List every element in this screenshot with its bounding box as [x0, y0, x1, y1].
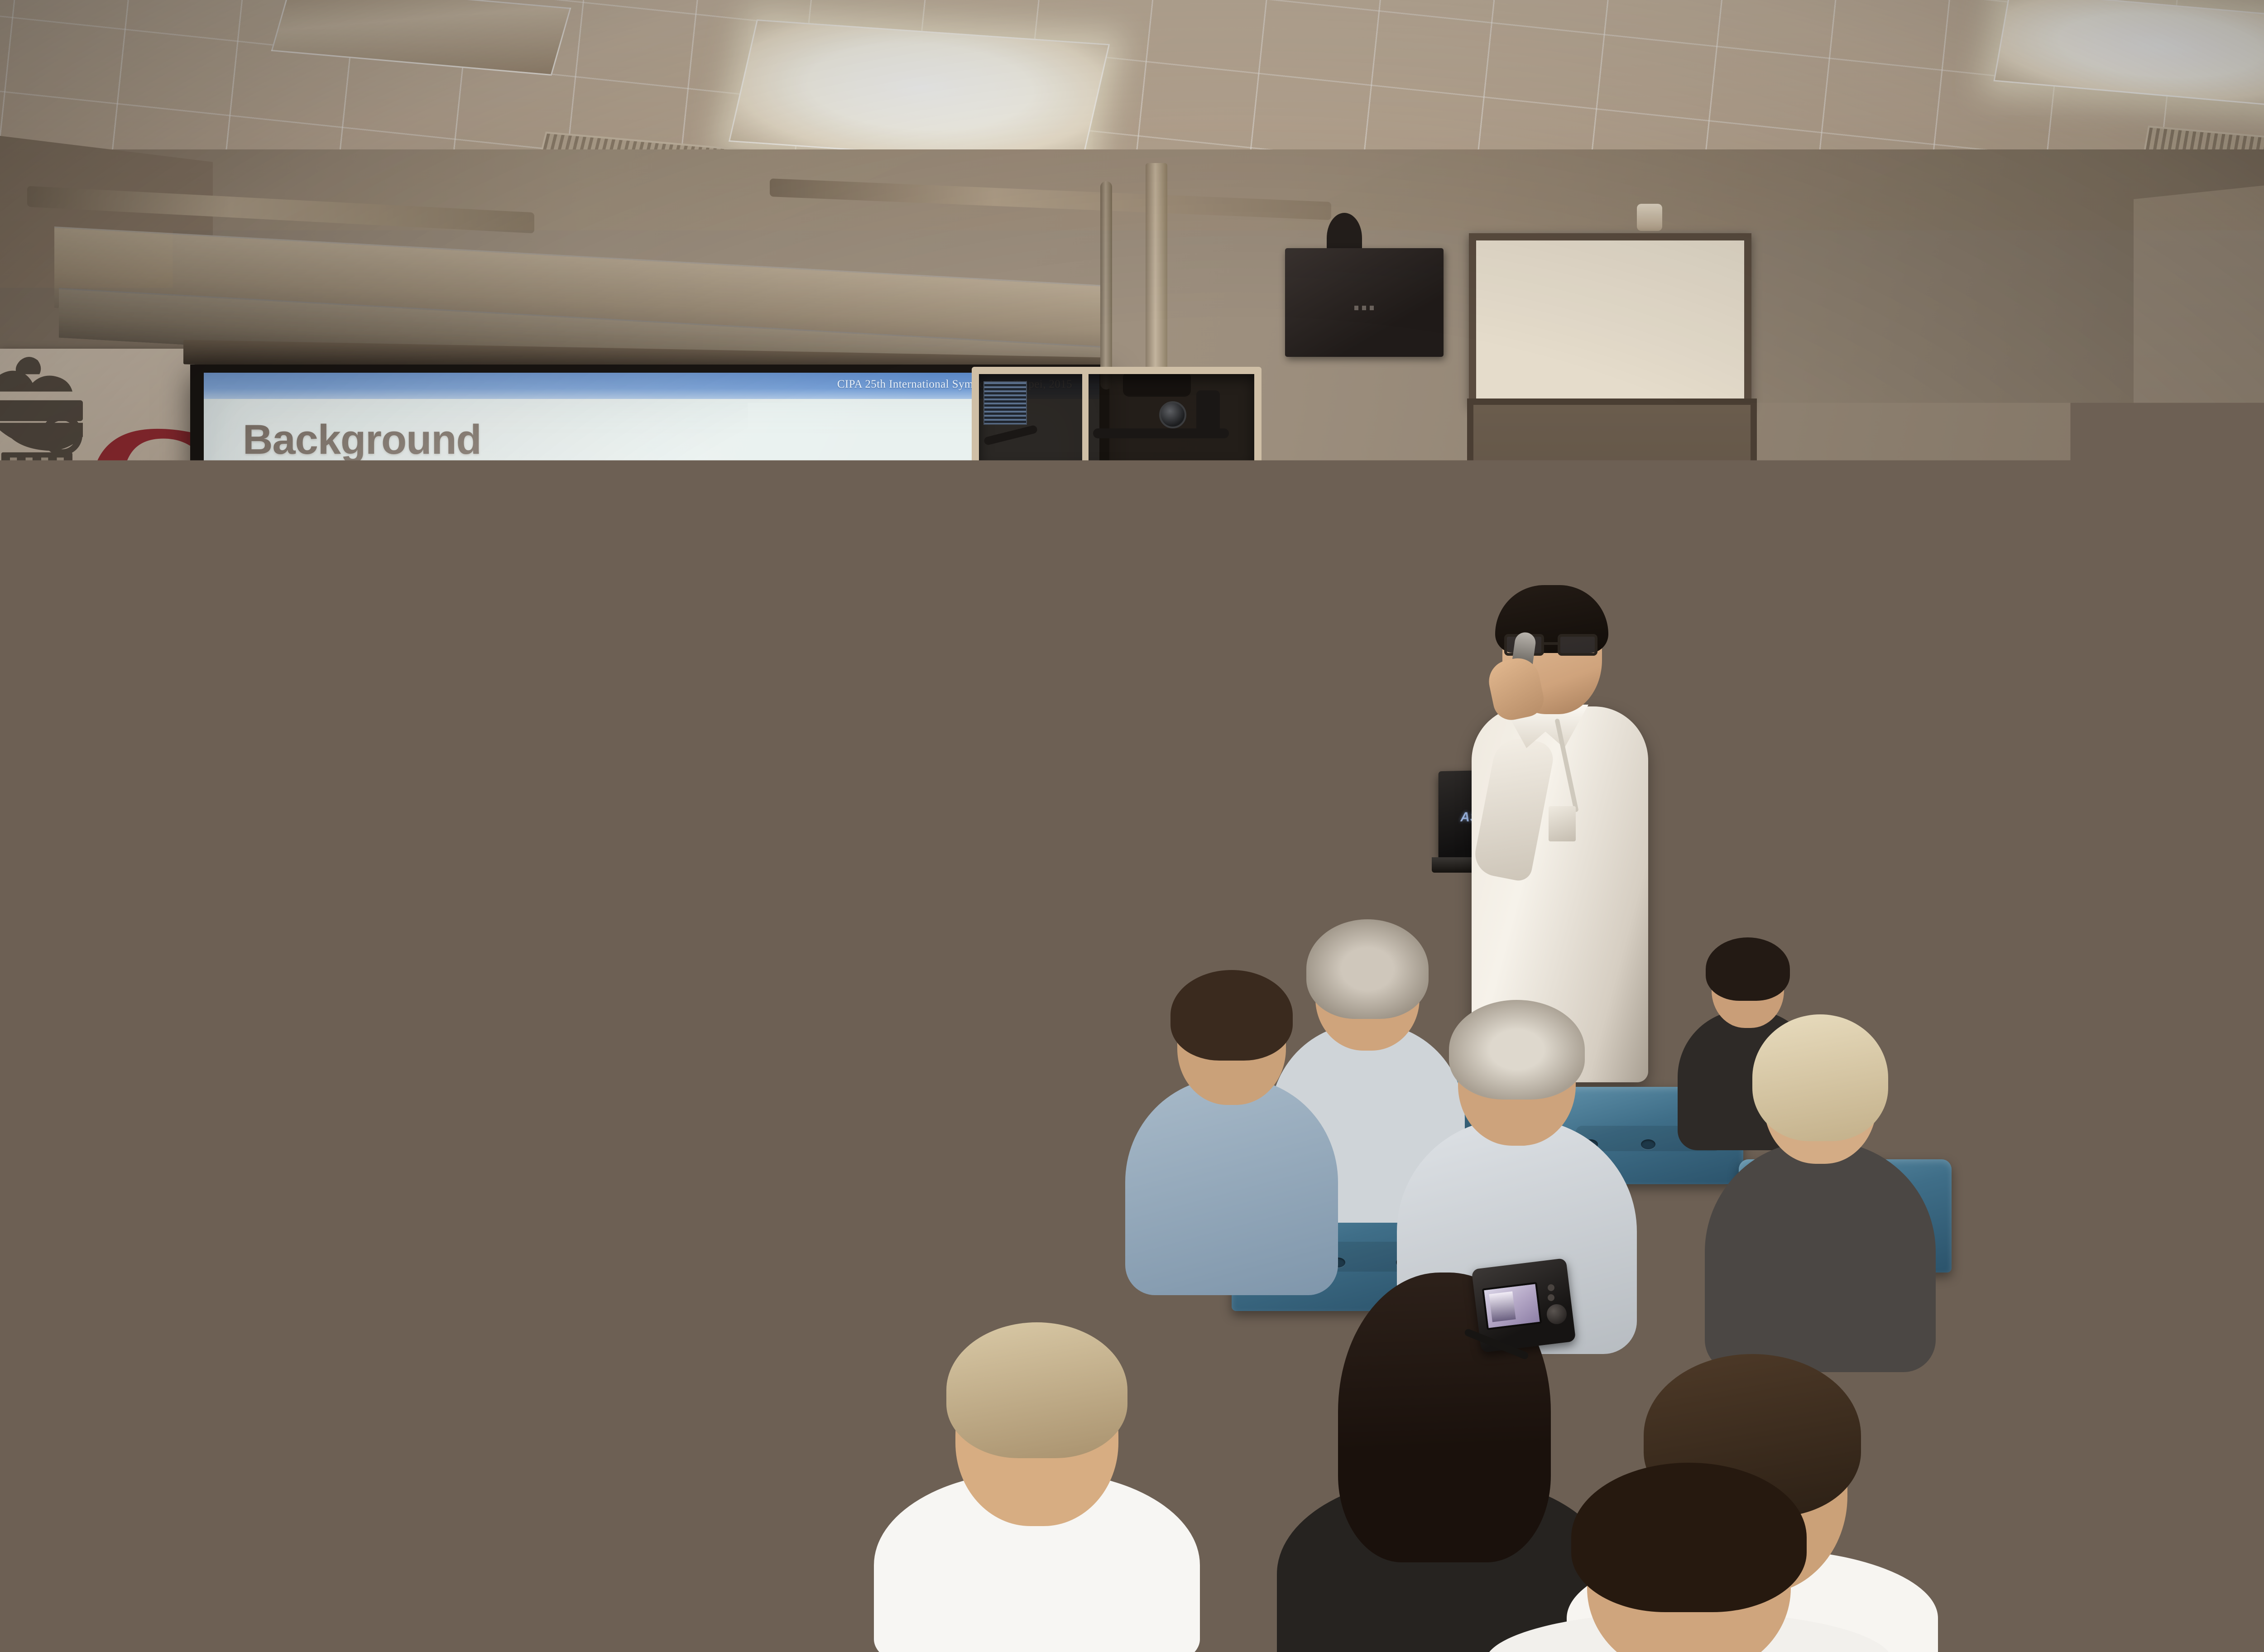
- red-sign-tag: [2085, 688, 2126, 700]
- ceiling-light-icon: [729, 19, 1110, 167]
- piano-brand-label: KAWAI: [2101, 868, 2174, 889]
- wall-notice-sheet: [1967, 593, 2076, 688]
- speaker-grille-dots: [1354, 306, 1374, 310]
- status-led: [1362, 546, 1370, 554]
- projector-knob: [1196, 390, 1220, 434]
- attendee-hair: [2210, 1377, 2264, 1549]
- attendee-hair: [1752, 1014, 1888, 1141]
- name-placard: Stephen Fai: [1015, 980, 1134, 1017]
- seat-armrest: [1955, 1499, 2130, 1551]
- mixer-led: [1367, 741, 1376, 749]
- camera-lcd-screen: [1482, 1282, 1542, 1330]
- slide-sub-bullet-list: data capture data processing representat…: [320, 652, 1081, 824]
- wall-notice-sheet: [2106, 602, 2155, 688]
- status-led: [1344, 546, 1352, 554]
- status-led: [1380, 546, 1388, 554]
- slide-title: Background: [243, 416, 1081, 464]
- mixer-led: [1384, 741, 1392, 749]
- attendee-hair: [946, 1322, 1127, 1458]
- wall-light-panel: [1469, 233, 1751, 406]
- attendee-head: [747, 960, 883, 1119]
- glasses-bridge: [1544, 642, 1558, 645]
- attendee-hair: [1449, 1000, 1585, 1100]
- seat-support-post: [290, 1508, 321, 1652]
- projector-cable: [983, 425, 1038, 446]
- status-led: [1467, 547, 1473, 552]
- rack-display: [1444, 562, 1502, 574]
- loudspeaker-icon: [1285, 248, 1444, 357]
- list-item: [874, 1254, 1200, 1652]
- attendee-hair: [1170, 970, 1293, 1061]
- slide-body: Background BIM are more and more used in…: [243, 416, 1081, 946]
- rack-knob: [1515, 575, 1526, 587]
- slide-header-band: CIPA 25th International Symposium, Taipe…: [204, 373, 1099, 399]
- banner-left-line2: mentation: [0, 597, 73, 620]
- status-led: [1480, 547, 1485, 552]
- ceiling-fixture-knob: [1637, 204, 1662, 231]
- slide-sub-bullet: representation: [320, 747, 1081, 777]
- slide-bullet: BIM are more and more used in heritage d…: [243, 487, 904, 577]
- glasses-lens: [1558, 634, 1597, 656]
- attendee-hair: [1571, 1463, 1807, 1612]
- list-item: [1485, 1422, 1893, 1652]
- rack-amplifier: [1318, 539, 1533, 593]
- slide-sub-bullet: data processing: [320, 700, 1081, 729]
- attendee-hair: [564, 1345, 731, 1467]
- projector-lens: [1159, 401, 1186, 428]
- attendee-torso: [2128, 1567, 2264, 1652]
- projector-vent: [983, 381, 1027, 425]
- list-item: [503, 1268, 792, 1652]
- presenter-badge: [1549, 806, 1576, 841]
- conference-room-scene: eritage mentation C aipei CIPA 25th Inte…: [0, 0, 2264, 1652]
- projector-icon: [972, 367, 1262, 471]
- slide-bullet: Bringing about changes of workflow in: [243, 592, 904, 637]
- slide-sub-bullet: data capture: [320, 652, 1081, 682]
- ionic-column-capital-icon: [0, 353, 93, 548]
- camera-photo-thumbnail: [1489, 1292, 1516, 1322]
- list-item: [2128, 1313, 2264, 1652]
- banner-left-line1: eritage: [0, 573, 73, 597]
- name-placard-text: Stephen Fai: [1033, 988, 1116, 1008]
- projection-screen: CIPA 25th International Symposium, Taipe…: [204, 373, 1099, 987]
- slide-footer-text: School of Architecture, Tianjin Universi…: [417, 965, 600, 977]
- vcr-front-button: [1325, 610, 1343, 618]
- attendee-hair: [2038, 1091, 2182, 1205]
- projector-cable-conduit: [1100, 181, 1112, 389]
- rack-display: [1352, 562, 1434, 574]
- projector-cable: [1093, 428, 1229, 438]
- vcr-tape-slot: [1357, 608, 1462, 629]
- projector-cage-bar: [1082, 374, 1089, 464]
- rack-knob: [1510, 556, 1526, 572]
- banner-c-mark: C: [82, 417, 195, 565]
- banner-left-text: eritage mentation: [0, 573, 73, 620]
- projector-mount-pole: [1146, 163, 1167, 394]
- slide-sub-bullet: ...: [320, 795, 1081, 824]
- cipa-heritage-banner: eritage mentation C: [0, 349, 195, 643]
